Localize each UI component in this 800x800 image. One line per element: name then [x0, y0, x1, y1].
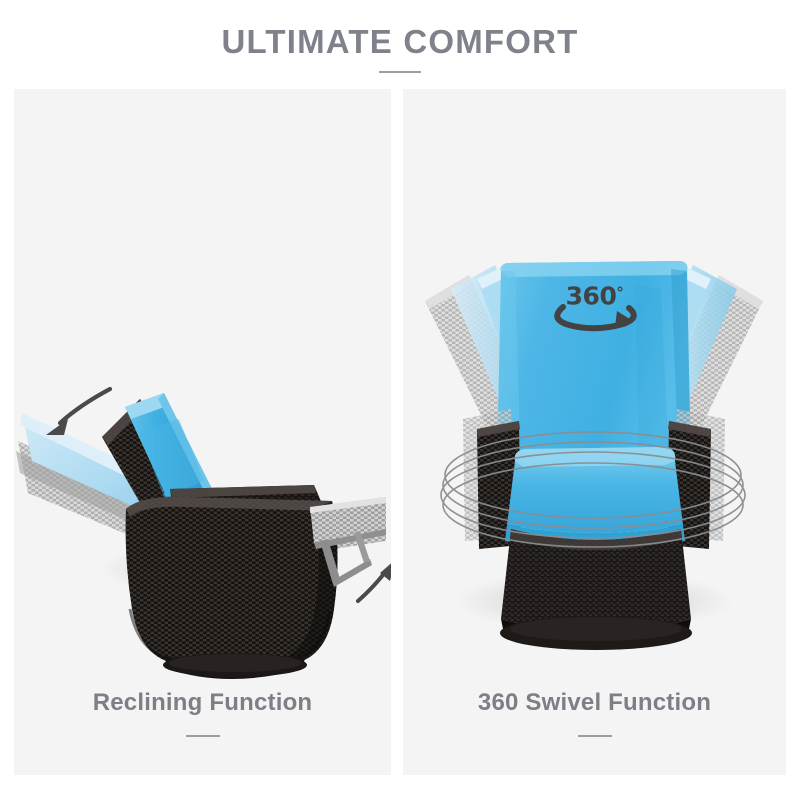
recline-back-arrow [46, 389, 110, 435]
swivel-illustration [403, 89, 786, 775]
caption-divider-swivel [578, 735, 612, 737]
panel-reclining: Reclining Function [14, 89, 391, 775]
panel-swivel: 360° 360 Swivel Function [403, 89, 786, 775]
caption-divider-reclining [186, 735, 220, 737]
badge-360-rotation-arrow [547, 299, 643, 333]
panel-caption-swivel: 360 Swivel Function [403, 689, 786, 717]
title-divider [379, 71, 421, 73]
page-title: ULTIMATE COMFORT [0, 22, 800, 62]
chair-arm-panel [126, 497, 338, 663]
infographic-page: ULTIMATE COMFORT [0, 0, 800, 800]
reclining-illustration [14, 89, 391, 775]
panel-caption-reclining: Reclining Function [14, 689, 391, 717]
reclining-chair-artwork [14, 89, 391, 775]
header: ULTIMATE COMFORT [0, 0, 800, 89]
swivel-chair-artwork [403, 89, 786, 775]
chair-base [163, 653, 307, 679]
